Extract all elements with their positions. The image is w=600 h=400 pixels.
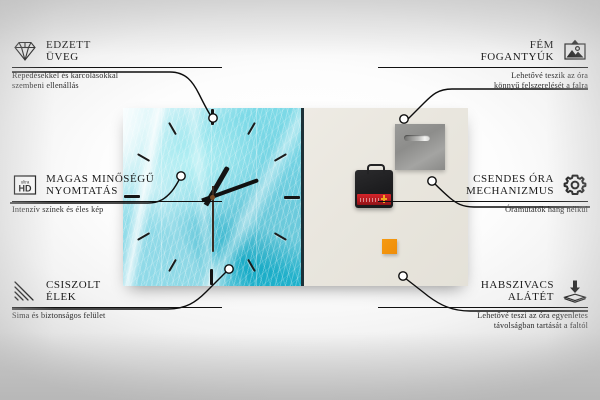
foam-pad [382,239,397,254]
picture-frame-icon [562,38,588,64]
battery-label [360,198,380,202]
metal-hanger-plate [395,124,445,170]
feature-title: EDZETT ÜVEG [46,39,91,64]
clock-tick [247,122,256,135]
divider [378,201,588,202]
clock-tick [247,259,256,272]
foam-pad-icon [562,278,588,304]
clock-tick [211,109,214,125]
feature-silent-mechanism: CSENDES ÓRA MECHANIZMUS Óramutatók hang … [378,172,588,215]
feature-description: Óramutatók hang nélkül [378,205,588,215]
clock-tick [168,259,177,272]
feature-description: Intenzív színek és éles kép [12,205,222,215]
clock-tick [137,232,150,241]
feature-header: CSENDES ÓRA MECHANIZMUS [378,172,588,198]
feature-tempered-glass: EDZETT ÜVEG Repedésekkel és karcolásokka… [12,38,222,91]
feature-title: FÉM FOGANTYÚK [481,39,554,64]
feature-description: Repedésekkel és karcolásokkal szembeni e… [12,71,222,91]
gear-icon [562,172,588,198]
clock-tick [274,232,287,241]
feature-high-quality-print: ultra HD MAGAS MINŐSÉGŰ NYOMTATÁS Intenz… [12,172,222,215]
polished-edge-icon [12,278,38,304]
infographic-canvas: EDZETT ÜVEG Repedésekkel és karcolásokka… [0,0,600,400]
diamond-icon [12,38,38,64]
hanger-slot [404,135,430,141]
divider [12,201,222,202]
feature-title: CSENDES ÓRA MECHANIZMUS [466,173,554,198]
feature-title: CSISZOLT ÉLEK [46,279,101,304]
feature-header: CSISZOLT ÉLEK [12,278,222,304]
feature-header: FÉM FOGANTYÚK [378,38,588,64]
feature-description: Lehetővé teszik az óra könnyű felszerelé… [378,71,588,91]
divider [378,67,588,68]
feature-header: ultra HD MAGAS MINŐSÉGŰ NYOMTATÁS [12,172,222,198]
clock-tick [274,153,287,162]
feature-title: HABSZIVACS ALÁTÉT [481,279,554,304]
svg-text:HD: HD [19,184,32,194]
feature-description: Lehetővé teszi az óra egyenletes távolsá… [378,311,588,331]
divider [12,307,222,308]
ultra-hd-icon: ultra HD [12,172,38,198]
divider [378,307,588,308]
feature-foam-spacer: HABSZIVACS ALÁTÉT Lehetővé teszi az óra … [378,278,588,331]
feature-header: EDZETT ÜVEG [12,38,222,64]
clock-tick [284,196,300,199]
feature-title: MAGAS MINŐSÉGŰ NYOMTATÁS [46,173,154,198]
feature-metal-handles: FÉM FOGANTYÚK Lehetővé teszik az óra kön… [378,38,588,91]
feature-polished-edges: CSISZOLT ÉLEK Sima és biztonságos felüle… [12,278,222,321]
divider [12,67,222,68]
clock-tick [137,153,150,162]
feature-description: Sima és biztonságos felület [12,311,222,321]
feature-header: HABSZIVACS ALÁTÉT [378,278,588,304]
clock-tick [168,122,177,135]
